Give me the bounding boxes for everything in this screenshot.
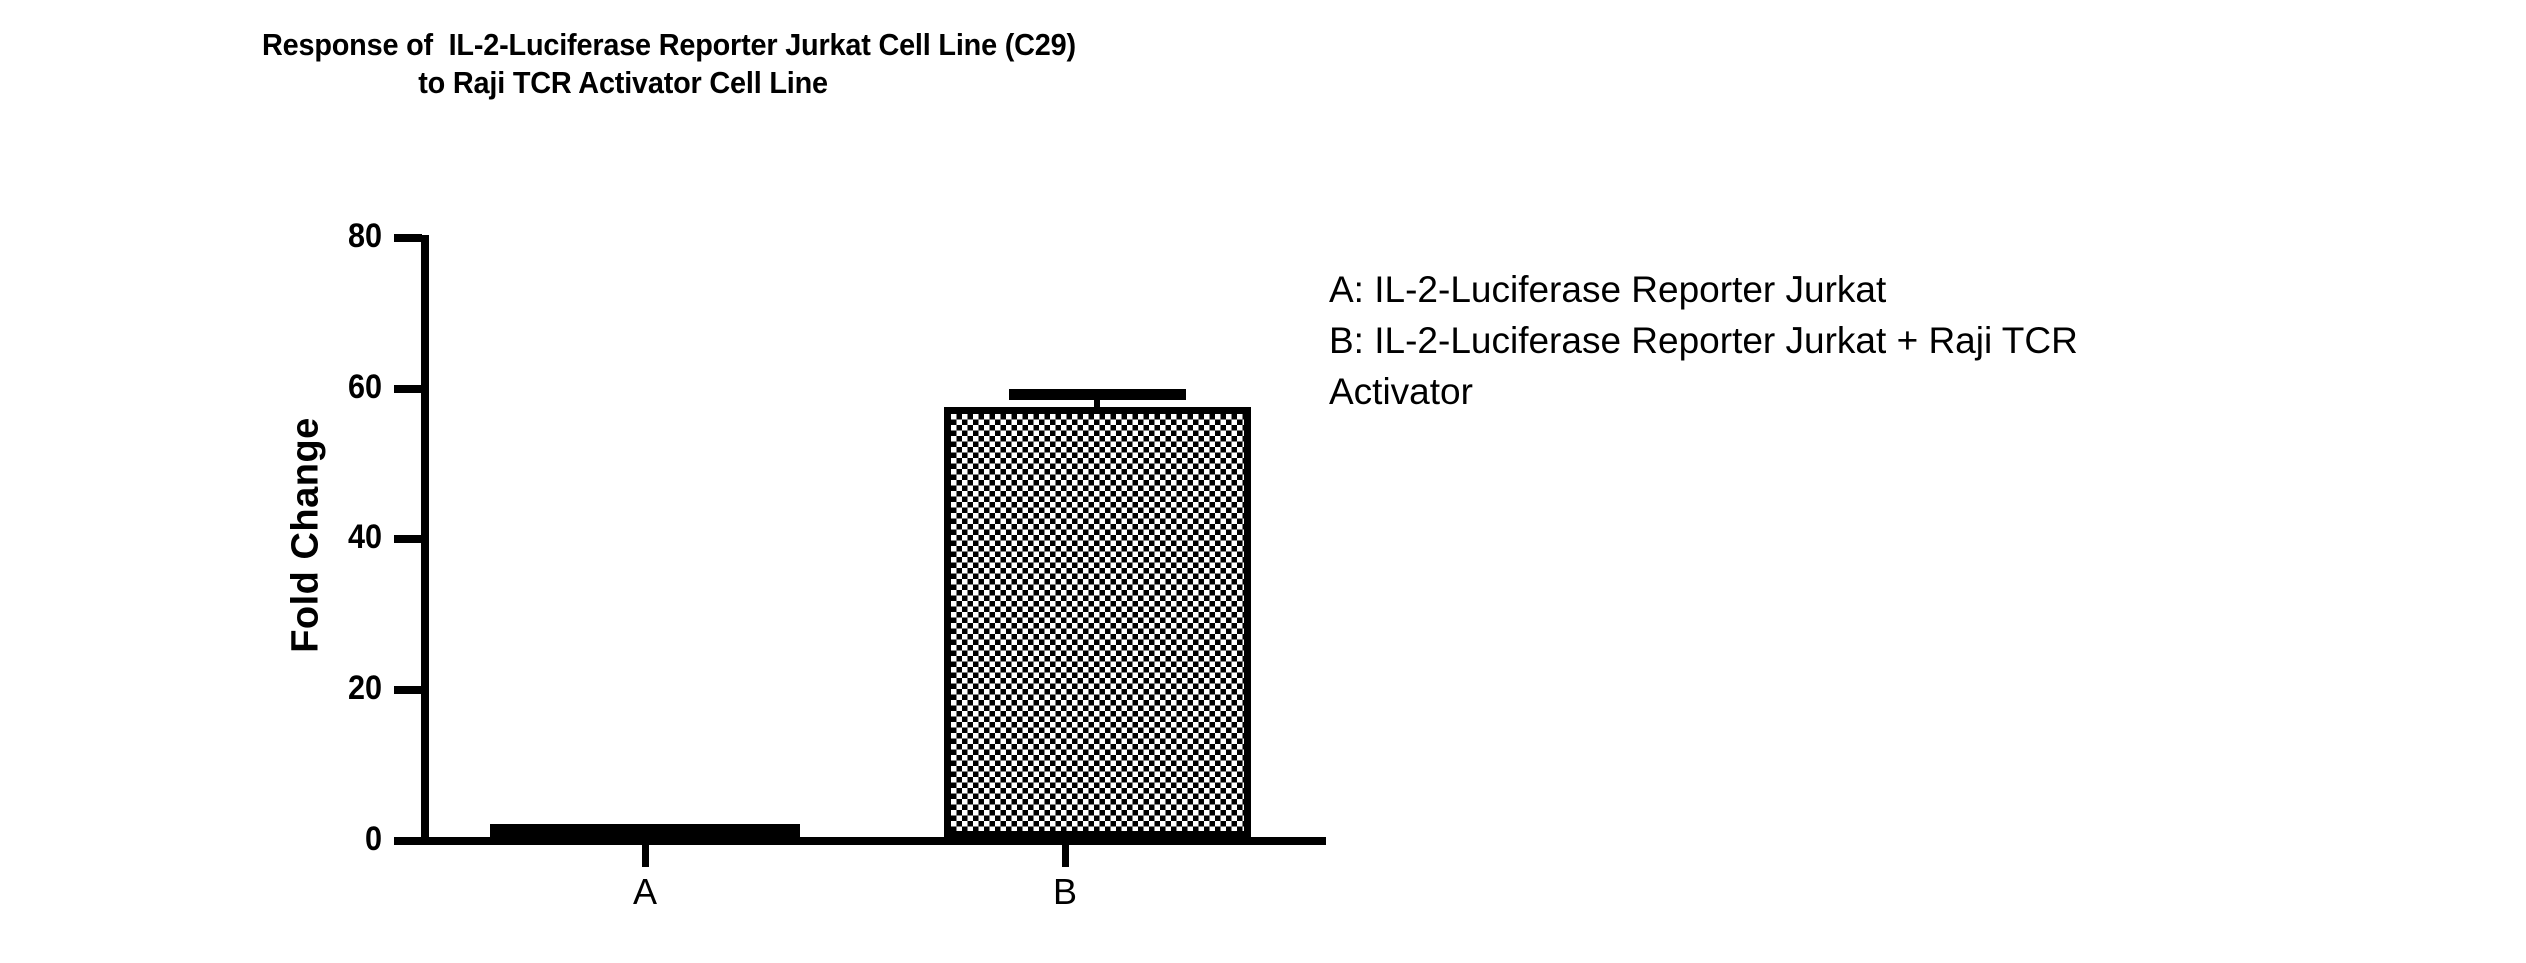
legend-item-a: A: IL-2-Luciferase Reporter Jurkat	[1329, 264, 2479, 315]
figure-canvas: Response of IL-2-Luciferase Reporter Jur…	[0, 0, 2526, 963]
chart-title-line-1: Response of IL-2-Luciferase Reporter Jur…	[262, 26, 1490, 64]
chart-title: Response of IL-2-Luciferase Reporter Jur…	[262, 26, 1582, 102]
x-axis-tick-b	[1062, 845, 1069, 867]
y-axis-label-60: 60	[274, 370, 382, 404]
error-bar-b-cap	[1009, 389, 1186, 400]
y-axis-tick-0	[394, 837, 422, 845]
y-axis-label-0: 0	[274, 822, 382, 856]
y-axis-tick-60	[394, 385, 422, 393]
y-axis-tick-40	[394, 535, 422, 543]
x-axis-label-a: A	[605, 872, 685, 912]
y-axis-label-40: 40	[274, 520, 382, 554]
chart-title-line-2: to Raji TCR Activator Cell Line	[262, 64, 1490, 102]
y-axis-label-20: 20	[274, 671, 382, 705]
legend-item-b-continued: Activator	[1329, 366, 2479, 417]
x-axis-tick-a	[642, 845, 649, 867]
legend-item-b: B: IL-2-Luciferase Reporter Jurkat + Raj…	[1329, 315, 2479, 366]
bar-b[interactable]	[944, 407, 1251, 838]
y-axis-tick-80	[394, 234, 422, 242]
y-axis-tick-20	[394, 686, 422, 694]
y-axis-label-80: 80	[274, 219, 382, 253]
y-axis-spine	[421, 235, 429, 845]
bar-a[interactable]	[490, 824, 800, 838]
x-axis-label-b: B	[1025, 872, 1105, 912]
x-axis-spine	[421, 837, 1326, 845]
legend: A: IL-2-Luciferase Reporter Jurkat B: IL…	[1329, 264, 2479, 417]
